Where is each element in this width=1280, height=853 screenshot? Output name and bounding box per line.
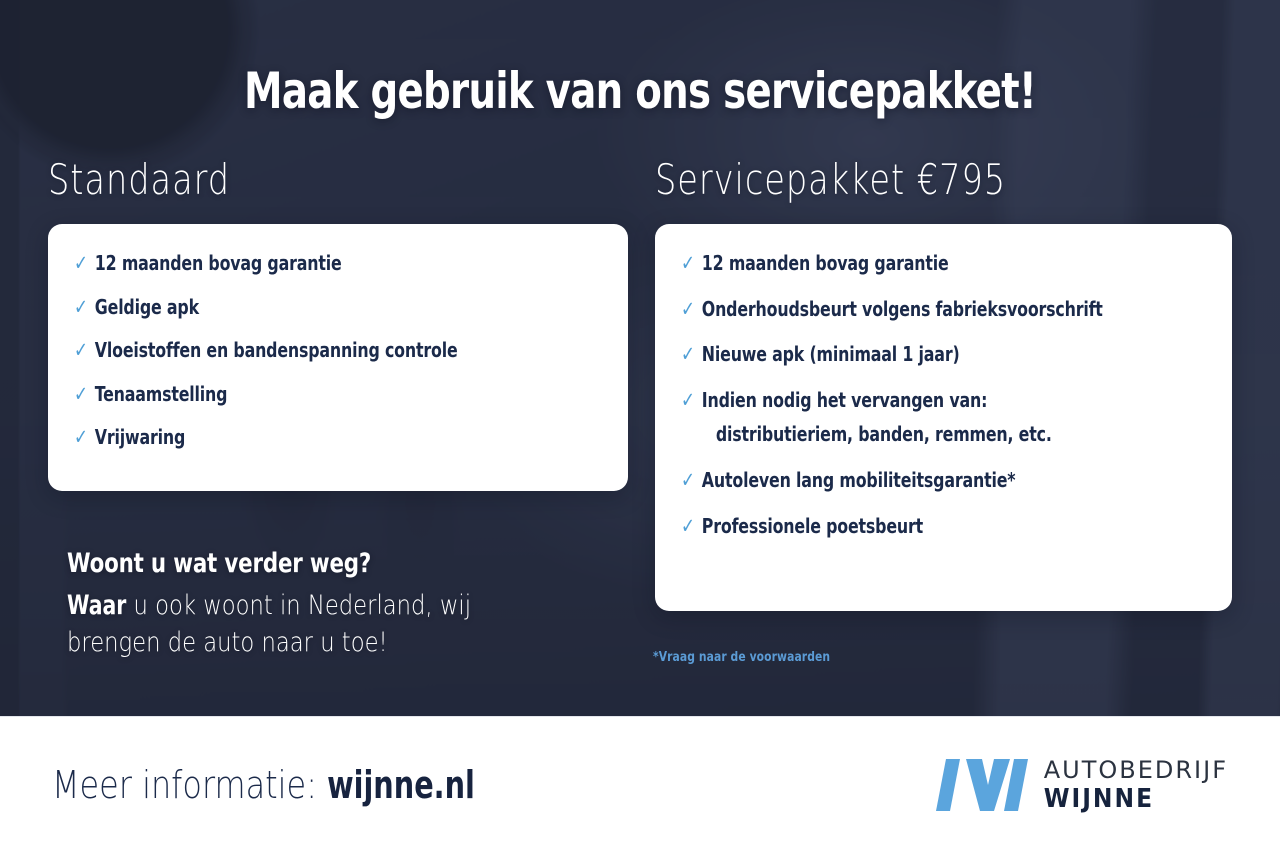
feature-label: Professionele poetsbeurt [702,515,923,539]
feature-card-servicepakket: ✓ 12 maanden bovag garantie ✓ Onderhouds… [655,224,1232,611]
feature-label: Onderhoudsbeurt volgens fabrieksvoorschr… [702,298,1103,322]
list-item: ✓ Vloeistoffen en bandenspanning control… [74,339,539,363]
check-icon: ✓ [74,384,88,405]
promo-line3: brengen de auto naar u toe! [67,627,388,658]
package-title-servicepakket: Servicepakket €795 [655,158,1117,202]
check-icon: ✓ [74,253,88,274]
check-icon: ✓ [681,516,695,537]
check-icon: ✓ [74,340,88,361]
delivery-promo: Woont u wat verder weg? Waar u ook woont… [67,548,627,662]
feature-card-standaard: ✓ 12 maanden bovag garantie ✓ Geldige ap… [48,224,628,491]
brand-logo[interactable]: AUTOBEDRIJF WIJNNE [936,758,1228,812]
promo-line2-rest: u ook woont in Nederland, wij [126,590,471,621]
terms-footnote: *Vraag naar de voorwaarden [653,650,830,665]
feature-label-group: Indien nodig het vervangen van: distribu… [702,389,1052,447]
list-item: ✓ Onderhoudsbeurt volgens fabrieksvoorsc… [681,298,1143,322]
logo-line-autobedrijf: AUTOBEDRIJF [1044,758,1228,782]
feature-label-continuation: distributieriem, banden, remmen, etc. [716,423,1052,447]
feature-label: Autoleven lang mobiliteitsgarantie* [702,469,1016,493]
check-icon: ✓ [681,299,695,320]
feature-label: Vrijwaring [95,426,185,450]
feature-label: 12 maanden bovag garantie [702,252,949,276]
list-item: ✓ Tenaamstelling [74,383,539,407]
footer-bar: Meer informatie: wijnne.nl AUTOBEDRIJF W… [0,716,1280,853]
list-item: ✓ Autoleven lang mobiliteitsgarantie* [681,469,1143,493]
package-title-standaard: Standaard [48,158,512,202]
promo-body: Waar u ook woont in Nederland, wij breng… [67,587,621,662]
feature-label: Nieuwe apk (minimaal 1 jaar) [702,343,960,367]
list-item: ✓ Geldige apk [74,296,539,320]
promo-question: Woont u wat verder weg? [67,548,560,579]
website-url[interactable]: wijnne.nl [327,763,475,807]
feature-label: Vloeistoffen en bandenspanning controle [95,339,458,363]
list-item: ✓ Professionele poetsbeurt [681,515,1143,539]
logo-line-wijnne: WIJNNE [1044,786,1228,812]
check-icon: ✓ [681,253,695,274]
logo-wordmark: AUTOBEDRIJF WIJNNE [1044,758,1228,812]
package-column-standaard: Standaard ✓ 12 maanden bovag garantie ✓ … [48,158,628,491]
list-item: ✓ 12 maanden bovag garantie [681,252,1143,276]
feature-label: Geldige apk [95,296,199,320]
check-icon: ✓ [681,390,695,411]
more-info-text: Meer informatie: wijnne.nl [52,763,475,807]
more-info-prefix: Meer informatie: [52,763,327,807]
servicepakket-poster: Maak gebruik van ons servicepakket! Stan… [0,0,1280,853]
check-icon: ✓ [74,297,88,318]
list-item: ✓ 12 maanden bovag garantie [74,252,539,276]
list-item: ✓ Nieuwe apk (minimaal 1 jaar) [681,343,1143,367]
feature-list-standaard: ✓ 12 maanden bovag garantie ✓ Geldige ap… [74,252,602,450]
aw-chevron-mark-icon [936,759,1028,811]
feature-label: 12 maanden bovag garantie [95,252,342,276]
package-column-servicepakket: Servicepakket €795 ✓ 12 maanden bovag ga… [655,158,1232,611]
check-icon: ✓ [681,344,695,365]
promo-emphasis: Waar [67,590,126,621]
list-item: ✓ Indien nodig het vervangen van: distri… [681,389,1143,447]
check-icon: ✓ [681,470,695,491]
feature-list-servicepakket: ✓ 12 maanden bovag garantie ✓ Onderhouds… [681,252,1206,538]
feature-label: Tenaamstelling [95,383,228,407]
check-icon: ✓ [74,427,88,448]
feature-label: Indien nodig het vervangen van: [702,389,1052,413]
list-item: ✓ Vrijwaring [74,426,539,450]
